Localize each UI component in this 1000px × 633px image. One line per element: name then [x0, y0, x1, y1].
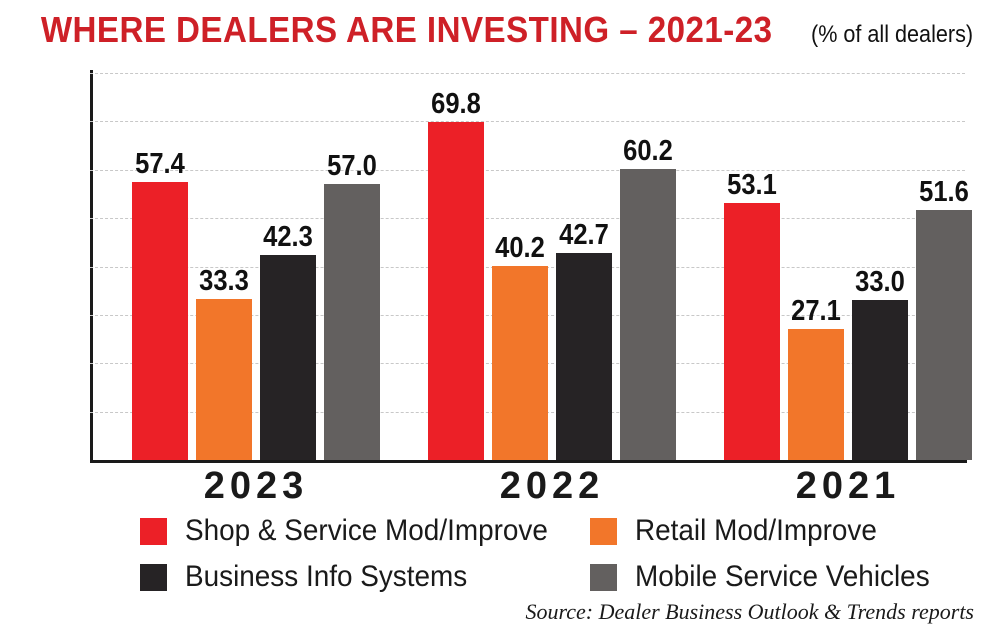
- bar: 57.4: [132, 182, 188, 460]
- bar-value-label: 42.7: [559, 220, 609, 250]
- bar: 53.1: [724, 203, 780, 460]
- bar-value-label: 33.3: [199, 266, 249, 296]
- chart-legend: Shop & Service Mod/ImproveRetail Mod/Imp…: [140, 508, 970, 600]
- gridline: [90, 121, 965, 122]
- bar-value-label: 57.0: [327, 151, 377, 181]
- x-axis-group-label-2021: 2021: [724, 466, 972, 506]
- bar: 51.6: [916, 210, 972, 460]
- bar: 42.3: [260, 255, 316, 460]
- plot-area: 57.433.342.357.069.840.242.760.253.127.1…: [90, 73, 965, 460]
- legend-item[interactable]: Mobile Service Vehicles: [590, 561, 970, 593]
- bar-value-label: 60.2: [623, 136, 673, 166]
- bar: 40.2: [492, 266, 548, 460]
- legend-color-swatch: [140, 518, 167, 545]
- x-axis-group-label-2022: 2022: [428, 466, 676, 506]
- bar-value-label: 42.3: [263, 222, 313, 252]
- gridline: [90, 170, 965, 171]
- legend-item-label: Mobile Service Vehicles: [635, 561, 930, 593]
- legend-color-swatch: [590, 564, 617, 591]
- page-subtitle: (% of all dealers): [811, 23, 973, 47]
- legend-item[interactable]: Retail Mod/Improve: [590, 515, 970, 547]
- bar-value-label: 27.1: [791, 296, 841, 326]
- gridline: [90, 73, 965, 74]
- legend-color-swatch: [590, 518, 617, 545]
- bar-value-label: 40.2: [495, 233, 545, 263]
- chart-header: WHERE DEALERS ARE INVESTING – 2021-23(% …: [0, 12, 1000, 48]
- x-axis-group-label-2023: 2023: [132, 466, 380, 506]
- bar: 57.0: [324, 184, 380, 460]
- source-note: Source: Dealer Business Outlook & Trends…: [525, 600, 974, 624]
- legend-color-swatch: [140, 564, 167, 591]
- bar: 27.1: [788, 329, 844, 460]
- page-title: WHERE DEALERS ARE INVESTING – 2021-23: [41, 12, 773, 48]
- bar-value-label: 33.0: [855, 267, 905, 297]
- legend-item[interactable]: Business Info Systems: [140, 561, 590, 593]
- bar-value-label: 57.4: [135, 149, 185, 179]
- bar-value-label: 51.6: [919, 177, 969, 207]
- bar: 33.3: [196, 299, 252, 460]
- legend-item[interactable]: Shop & Service Mod/Improve: [140, 515, 590, 547]
- bar: 33.0: [852, 300, 908, 460]
- bar-value-label: 69.8: [431, 89, 481, 119]
- bar: 69.8: [428, 122, 484, 460]
- bar-value-label: 53.1: [727, 170, 777, 200]
- legend-item-label: Retail Mod/Improve: [635, 515, 877, 547]
- legend-item-label: Shop & Service Mod/Improve: [185, 515, 548, 547]
- bar: 42.7: [556, 253, 612, 460]
- gridline: [90, 218, 965, 219]
- x-axis-line: [90, 460, 967, 463]
- legend-item-label: Business Info Systems: [185, 561, 467, 593]
- bar: 60.2: [620, 169, 676, 460]
